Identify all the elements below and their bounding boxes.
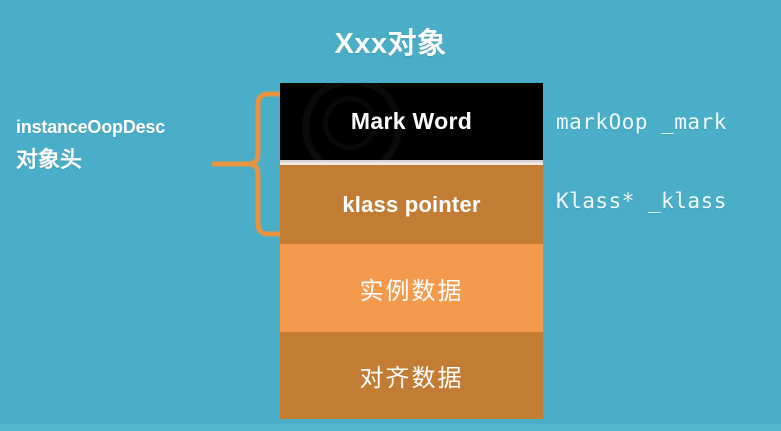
row-alignment-data: 对齐数据 (280, 332, 543, 419)
annotation-mark-oop: markOop _mark (556, 110, 727, 134)
row-instance-data-label: 实例数据 (360, 271, 464, 306)
row-mark-word-label: Mark Word (351, 108, 472, 135)
object-layout-box: Mark Word klass pointer 实例数据 对齐数据 (280, 83, 543, 419)
row-klass-pointer-label: lass pointer (355, 192, 481, 218)
annotation-klass-pointer: Klass* _klass (556, 189, 727, 213)
page-title: Xxx对象 (0, 20, 781, 62)
row-klass-pointer-label-initial: k (342, 192, 354, 218)
bottom-band (0, 424, 781, 431)
row-mark-word: Mark Word (280, 83, 543, 160)
row-instance-data: 实例数据 (280, 244, 543, 332)
diagram-canvas: Xxx对象 instanceOopDesc 对象头 Mark Word klas… (0, 0, 781, 431)
curly-brace-icon (208, 86, 284, 242)
row-klass-pointer: klass pointer (280, 165, 543, 244)
row-alignment-data-label: 对齐数据 (360, 358, 464, 393)
